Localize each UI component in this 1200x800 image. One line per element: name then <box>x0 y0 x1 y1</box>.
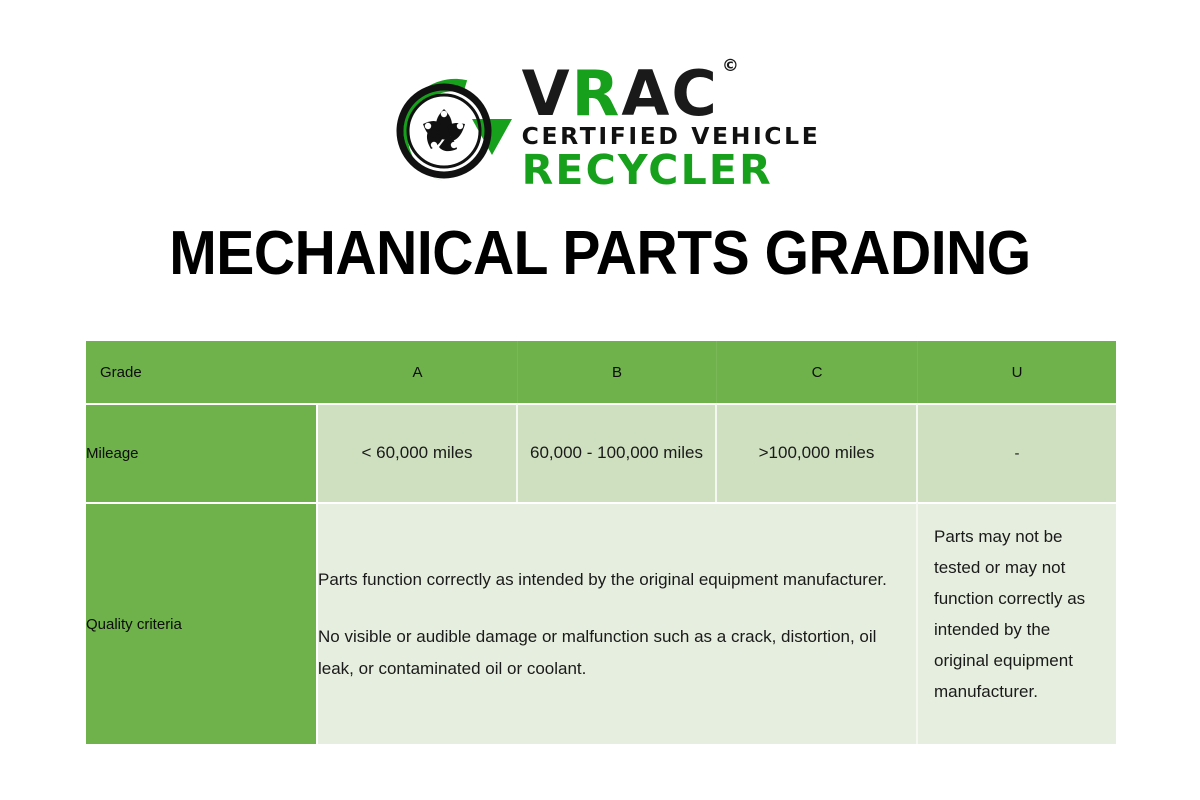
page-title: MECHANICAL PARTS GRADING <box>48 218 1152 289</box>
logo-letter-r: R <box>572 57 622 130</box>
cell-mileage-a: < 60,000 miles <box>318 403 518 502</box>
logo-subline-recycler: RECYCLER <box>522 150 773 191</box>
cell-mileage-b: 60,000 - 100,000 miles <box>518 403 717 502</box>
cell-quality-u: Parts may not be tested or may not funct… <box>918 502 1116 744</box>
logo-letter-v: V <box>522 57 572 130</box>
header-cell-grade: Grade <box>86 341 318 403</box>
quality-paragraph-1: Parts function correctly as intended by … <box>318 564 916 595</box>
vrac-logo: VRAC© CERTIFIED VEHICLE RECYCLER <box>0 52 1200 202</box>
recycling-wheel-icon <box>380 57 516 197</box>
logo-text-group: VRAC© CERTIFIED VEHICLE RECYCLER <box>522 63 821 192</box>
mechanical-parts-grading-table: Grade A B C U Mileage < 60,000 miles 60,… <box>86 341 1116 744</box>
table-header-row: Grade A B C U <box>86 341 1116 403</box>
copyright-icon: © <box>722 56 739 76</box>
row-label-mileage: Mileage <box>86 403 318 502</box>
cell-quality-abc: Parts function correctly as intended by … <box>318 502 918 744</box>
logo-letters-ac: AC <box>621 57 718 130</box>
cell-mileage-c: >100,000 miles <box>717 403 918 502</box>
logo-inner: VRAC© CERTIFIED VEHICLE RECYCLER <box>380 57 821 197</box>
table-row-mileage: Mileage < 60,000 miles 60,000 - 100,000 … <box>86 403 1116 502</box>
header-cell-c: C <box>717 341 918 403</box>
cell-mileage-u: - <box>918 403 1116 502</box>
header-cell-b: B <box>518 341 717 403</box>
header-cell-u: U <box>918 341 1116 403</box>
row-label-quality-criteria: Quality criteria <box>86 502 318 744</box>
logo-wordmark: VRAC© <box>522 65 736 122</box>
header-cell-a: A <box>318 341 518 403</box>
table-row-quality-criteria: Quality criteria Parts function correctl… <box>86 502 1116 744</box>
quality-paragraph-2: No visible or audible damage or malfunct… <box>318 621 916 684</box>
